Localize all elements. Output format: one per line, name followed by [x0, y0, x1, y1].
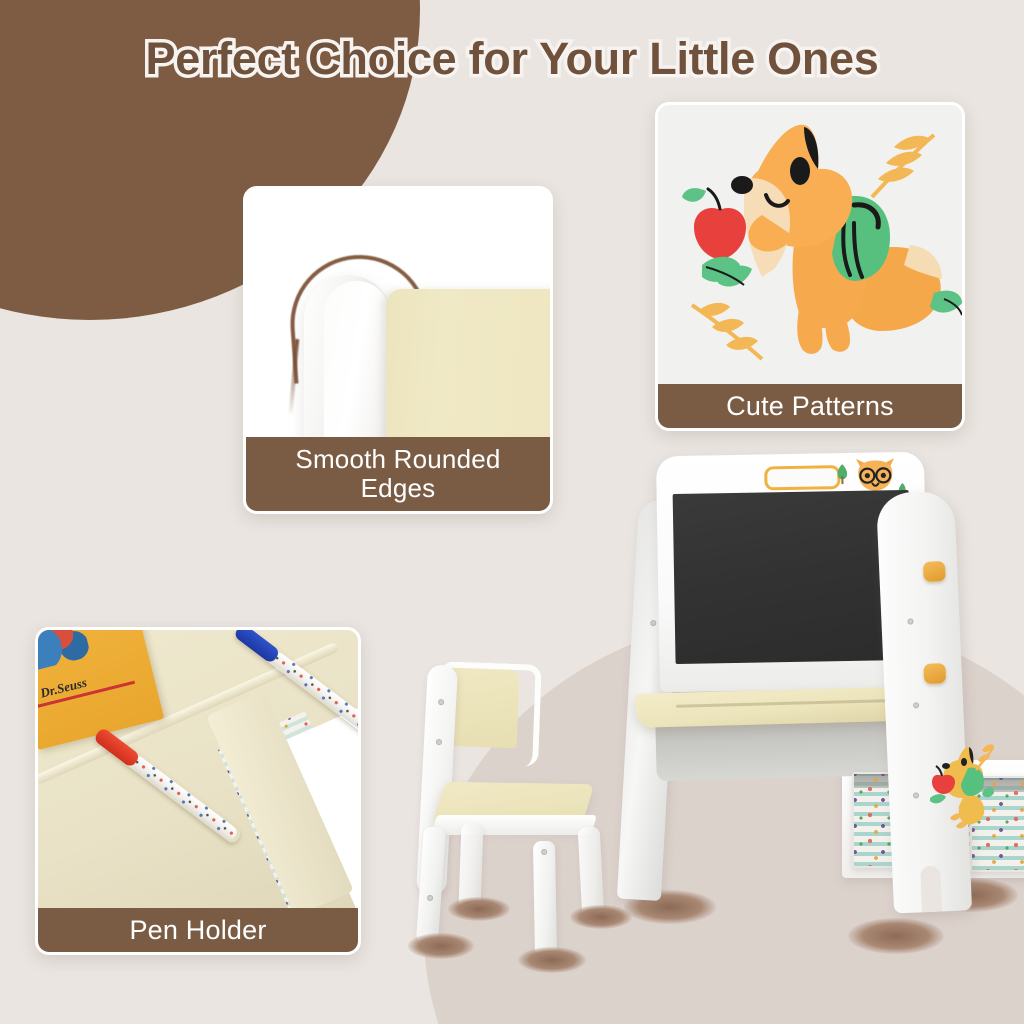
chair-leg: [533, 841, 557, 957]
pen-holder-photo: Dr.Seuss: [38, 630, 358, 952]
book-cover-art: [38, 630, 91, 673]
adjustment-knob[interactable]: [923, 561, 946, 582]
chalkboard-surface[interactable]: [673, 490, 912, 664]
fox-side-decal-icon: [928, 740, 994, 832]
product-photo: [380, 440, 1010, 1020]
foot-pad-shadow: [518, 947, 586, 973]
shelf-pen-groove: [676, 699, 896, 708]
kids-chair: [398, 655, 638, 985]
foot-pad-shadow: [408, 933, 474, 959]
feature-card-pen-holder[interactable]: Dr.Seuss Pen Holder: [35, 627, 361, 955]
feature-caption: Pen Holder: [38, 908, 358, 952]
poster-canvas: Perfect Choice for Your Little Ones Smoo…: [0, 0, 1024, 1024]
carry-handle[interactable]: [764, 465, 840, 490]
chair-seat-apron: [431, 815, 597, 835]
tree-sticker-icon: [834, 463, 850, 485]
adjustment-knob[interactable]: [923, 663, 946, 684]
cute-patterns-photo: [658, 105, 962, 428]
book-logo-text: Dr.Seuss: [38, 660, 131, 705]
feature-caption: Cute Patterns: [658, 384, 962, 428]
foot-pad-shadow: [570, 905, 632, 929]
fox-illustration-icon: [658, 105, 962, 385]
feature-card-cute-patterns[interactable]: Cute Patterns: [655, 102, 965, 431]
fox-face-sticker-icon: [852, 458, 899, 493]
page-title: Perfect Choice for Your Little Ones: [0, 33, 1024, 85]
foot-pad-shadow: [448, 897, 510, 921]
art-easel-unit: [610, 440, 980, 960]
